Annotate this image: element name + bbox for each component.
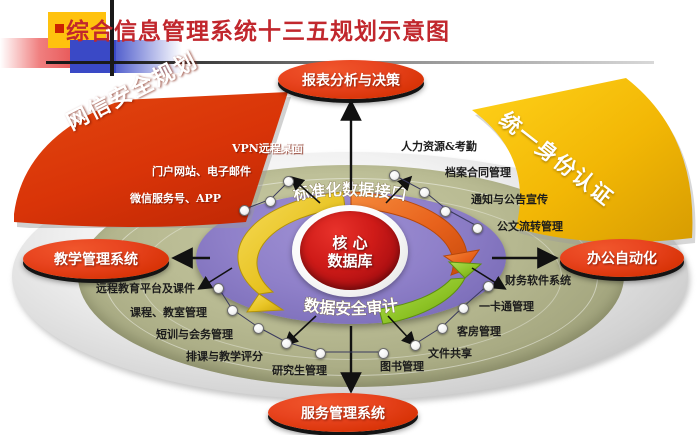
node-label: 微信服务号、APP xyxy=(130,190,221,206)
system-ellipse-report-analysis[interactable]: 报表分析与决策 xyxy=(278,60,424,99)
node-dot[interactable] xyxy=(472,223,483,234)
system-label-top: 报表分析与决策 xyxy=(302,70,400,90)
title-bullet-icon xyxy=(55,24,64,33)
node-dot[interactable] xyxy=(239,205,250,216)
node-label: 客房管理 xyxy=(457,323,501,339)
system-ellipse-office-automation[interactable]: 办公自动化 xyxy=(560,239,684,277)
page-title: 综合信息管理系统十三五规划示意图 xyxy=(66,12,450,46)
core-label-line1: 核 心 xyxy=(332,234,367,252)
system-label-right: 办公自动化 xyxy=(587,248,657,268)
node-label: 门户网站、电子邮件 xyxy=(152,163,251,179)
node-label: VPN远程桌面 xyxy=(232,140,303,156)
node-dot[interactable] xyxy=(440,206,451,217)
node-label: 财务软件系统 xyxy=(505,272,571,288)
node-label: 档案合同管理 xyxy=(445,164,511,180)
node-label: 课程、教室管理 xyxy=(130,304,207,320)
node-dot[interactable] xyxy=(283,176,294,187)
node-label: 图书管理 xyxy=(380,358,424,374)
node-dot[interactable] xyxy=(281,338,292,349)
node-dot[interactable] xyxy=(419,187,430,198)
node-dot[interactable] xyxy=(253,323,264,334)
node-dot[interactable] xyxy=(315,348,326,359)
system-label-left: 教学管理系统 xyxy=(54,249,138,269)
core-database-label: 核 心 数据库 xyxy=(300,214,400,290)
core-label-line2: 数据库 xyxy=(327,252,372,270)
node-label: 人力资源&考勤 xyxy=(401,138,477,154)
node-label: 文件共享 xyxy=(428,345,472,361)
node-label: 通知与公告宣传 xyxy=(471,191,548,207)
node-dot[interactable] xyxy=(410,340,421,351)
node-label: 一卡通管理 xyxy=(479,298,534,314)
system-ellipse-service-management[interactable]: 服务管理系统 xyxy=(268,393,418,432)
node-label: 研究生管理 xyxy=(272,362,327,378)
node-label: 排课与教学评分 xyxy=(186,348,263,364)
system-ellipse-teaching-management[interactable]: 教学管理系统 xyxy=(23,239,169,279)
node-dot[interactable] xyxy=(458,303,469,314)
node-dot[interactable] xyxy=(389,170,400,181)
node-dot[interactable] xyxy=(265,196,276,207)
node-label: 公文流转管理 xyxy=(497,218,563,234)
system-label-bottom: 服务管理系统 xyxy=(301,403,385,423)
slide-canvas: 综合信息管理系统十三五规划示意图 xyxy=(0,0,700,435)
node-label: 远程教育平台及课件 xyxy=(96,280,195,296)
node-label: 短训与会务管理 xyxy=(156,326,233,342)
node-dot[interactable] xyxy=(483,281,494,292)
banner-security-planning[interactable] xyxy=(14,92,314,228)
node-dot[interactable] xyxy=(437,323,448,334)
node-dot[interactable] xyxy=(213,283,224,294)
node-dot[interactable] xyxy=(227,305,238,316)
